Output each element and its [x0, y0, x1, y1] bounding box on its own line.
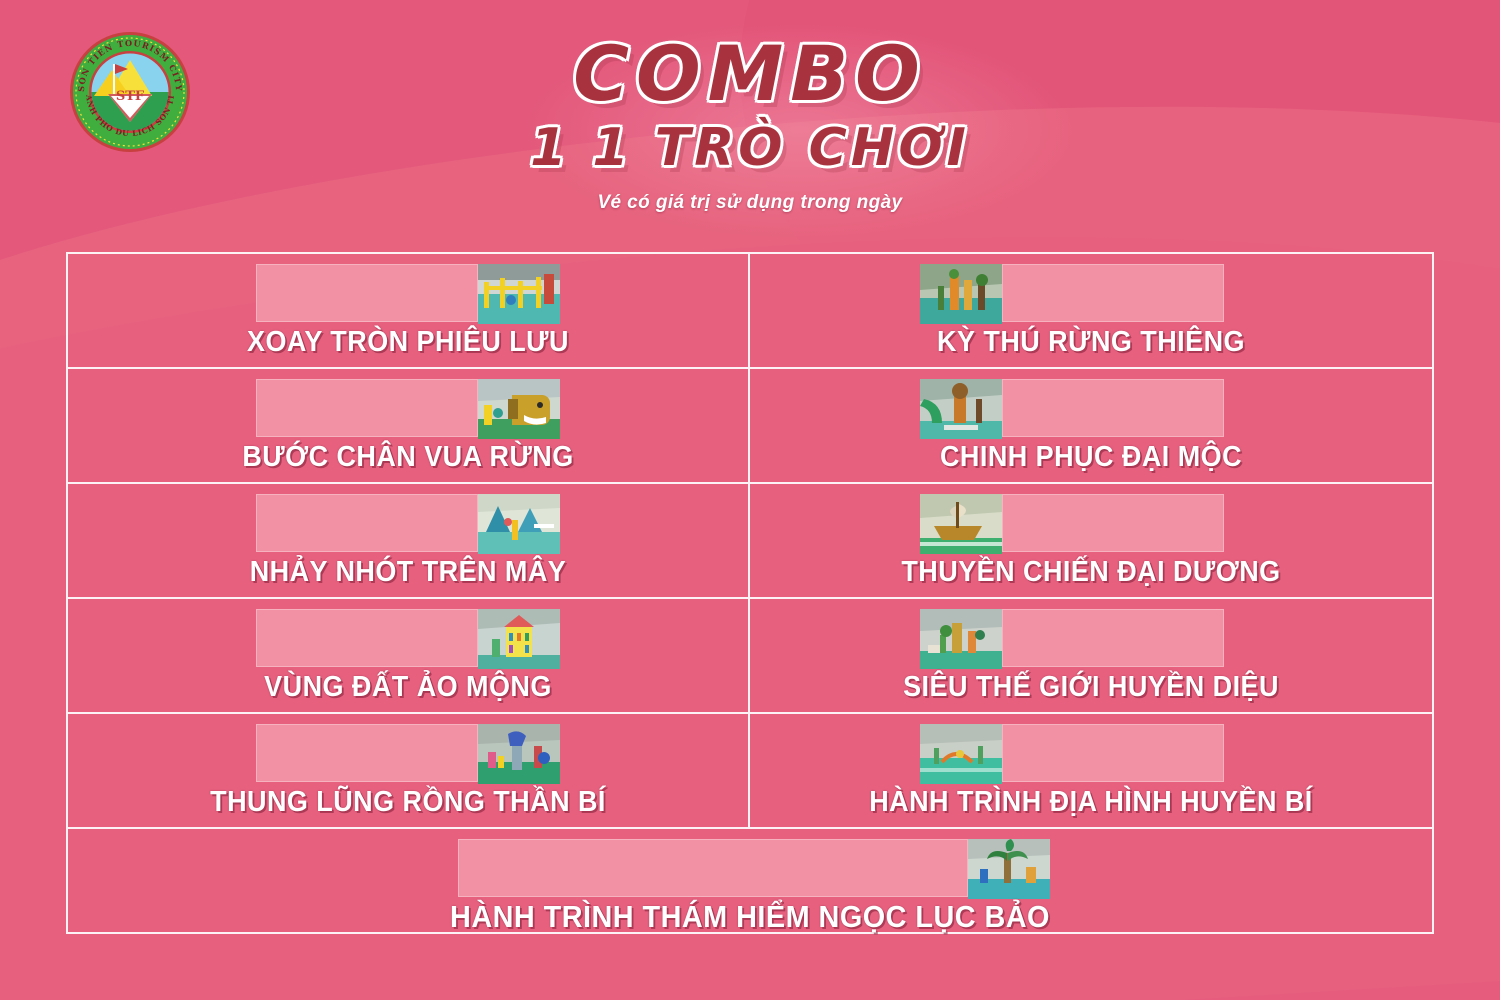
game-row: XOAY TRÒN PHIÊU LƯU KỲ THÚ RỪNG THIÊNG	[68, 254, 1432, 369]
media-band	[458, 839, 1050, 899]
game-label: HÀNH TRÌNH ĐỊA HÌNH HUYỀN BÍ	[774, 786, 1408, 819]
pirate-ship-thumb	[920, 494, 1002, 554]
game-item-nhay-nhot-tren-may[interactable]: NHẢY NHÓT TRÊN MÂY	[68, 484, 750, 597]
terrain-course-thumb	[920, 724, 1002, 784]
title-combo: COMBO	[0, 36, 1500, 112]
media-band	[920, 724, 1224, 784]
game-label: CHINH PHỤC ĐẠI MỘC	[774, 441, 1408, 474]
game-list-grid: XOAY TRÒN PHIÊU LƯU KỲ THÚ RỪNG THIÊNG	[66, 252, 1434, 934]
game-label: BƯỚC CHÂN VUA RỪNG	[92, 441, 724, 474]
media-band	[256, 264, 560, 324]
ticket-validity-note: Vé có giá trị sử dụng trong ngày	[0, 192, 1500, 214]
game-item-xoay-tron-phieu-luu[interactable]: XOAY TRÒN PHIÊU LƯU	[68, 254, 750, 367]
dragon-valley-ride-thumb	[478, 724, 560, 784]
price-placeholder-box	[256, 264, 478, 322]
game-item-hanh-trinh-dia-hinh-huyen-bi[interactable]: HÀNH TRÌNH ĐỊA HÌNH HUYỀN BÍ	[750, 714, 1432, 827]
emerald-palm-tower-thumb	[968, 839, 1050, 899]
price-placeholder-box	[1002, 264, 1224, 322]
price-placeholder-box	[256, 379, 478, 437]
game-item-sieu-the-gioi-huyen-dieu[interactable]: SIÊU THẾ GIỚI HUYỀN DIỆU	[750, 599, 1432, 712]
game-row: BƯỚC CHÂN VUA RỪNG CHINH PHỤC ĐẠI MỘC	[68, 369, 1432, 484]
indoor-playland-thumb	[920, 609, 1002, 669]
game-item-hanh-trinh-tham-hiem-ngoc-luc-bao[interactable]: HÀNH TRÌNH THÁM HIỂM NGỌC LỤC BẢO	[68, 829, 1432, 940]
game-label: NHẢY NHÓT TRÊN MÂY	[92, 556, 724, 589]
media-band	[920, 609, 1224, 669]
playground-yellow-frames-thumb	[478, 264, 560, 324]
media-band	[256, 724, 560, 784]
price-placeholder-box	[256, 494, 478, 552]
game-label: VÙNG ĐẤT ẢO MỘNG	[92, 671, 724, 704]
game-label: HÀNH TRÌNH THÁM HIỂM NGỌC LỤC BẢO	[116, 899, 1385, 935]
jungle-climbing-tower-thumb	[920, 264, 1002, 324]
game-item-buoc-chan-vua-rung[interactable]: BƯỚC CHÂN VUA RỪNG	[68, 369, 750, 482]
colorful-castle-tower-thumb	[478, 609, 560, 669]
game-item-thung-lung-rong-than-bi[interactable]: THUNG LŨNG RỒNG THẦN BÍ	[68, 714, 750, 827]
price-placeholder-box	[256, 609, 478, 667]
media-band	[256, 494, 560, 554]
game-item-thuyen-chien-dai-duong[interactable]: THUYỀN CHIẾN ĐẠI DƯƠNG	[750, 484, 1432, 597]
title-11-tro-choi: 1 1 TRÒ CHƠI	[0, 122, 1500, 174]
poster-header: COMBO 1 1 TRÒ CHƠI Vé có giá trị sử dụng…	[0, 36, 1500, 214]
media-band	[256, 379, 560, 439]
price-placeholder-box	[1002, 724, 1224, 782]
game-item-vung-dat-ao-mong[interactable]: VÙNG ĐẤT ẢO MỘNG	[68, 599, 750, 712]
game-item-chinh-phuc-dai-moc[interactable]: CHINH PHỤC ĐẠI MỘC	[750, 369, 1432, 482]
combo-poster: STF SON TIEN TOURISM CITY THANH PHO DU L…	[0, 0, 1500, 1000]
game-item-ky-thu-rung-thieng[interactable]: KỲ THÚ RỪNG THIÊNG	[750, 254, 1432, 367]
game-label: KỲ THÚ RỪNG THIÊNG	[774, 326, 1408, 359]
media-band	[920, 494, 1224, 554]
price-placeholder-box	[1002, 379, 1224, 437]
game-row-full: HÀNH TRÌNH THÁM HIỂM NGỌC LỤC BẢO	[68, 829, 1432, 940]
game-label: XOAY TRÒN PHIÊU LƯU	[92, 326, 724, 359]
game-row: NHẢY NHÓT TRÊN MÂY THUYỀN CHIẾN ĐẠI DƯƠN…	[68, 484, 1432, 599]
trampoline-tents-thumb	[478, 494, 560, 554]
media-band	[256, 609, 560, 669]
game-label: THUNG LŨNG RỒNG THẦN BÍ	[92, 786, 724, 819]
price-placeholder-box	[256, 724, 478, 782]
price-placeholder-box	[1002, 609, 1224, 667]
lion-head-sculpture-thumb	[478, 379, 560, 439]
media-band	[920, 379, 1224, 439]
game-row: VÙNG ĐẤT ẢO MỘNG SIÊU THẾ GIỚI HUYỀN DIỆ…	[68, 599, 1432, 714]
price-placeholder-box	[458, 839, 968, 897]
price-placeholder-box	[1002, 494, 1224, 552]
green-slide-tree-thumb	[920, 379, 1002, 439]
game-label: SIÊU THẾ GIỚI HUYỀN DIỆU	[774, 671, 1408, 704]
game-label: THUYỀN CHIẾN ĐẠI DƯƠNG	[774, 556, 1408, 589]
game-row: THUNG LŨNG RỒNG THẦN BÍ HÀNH TRÌNH ĐỊA H…	[68, 714, 1432, 829]
media-band	[920, 264, 1224, 324]
